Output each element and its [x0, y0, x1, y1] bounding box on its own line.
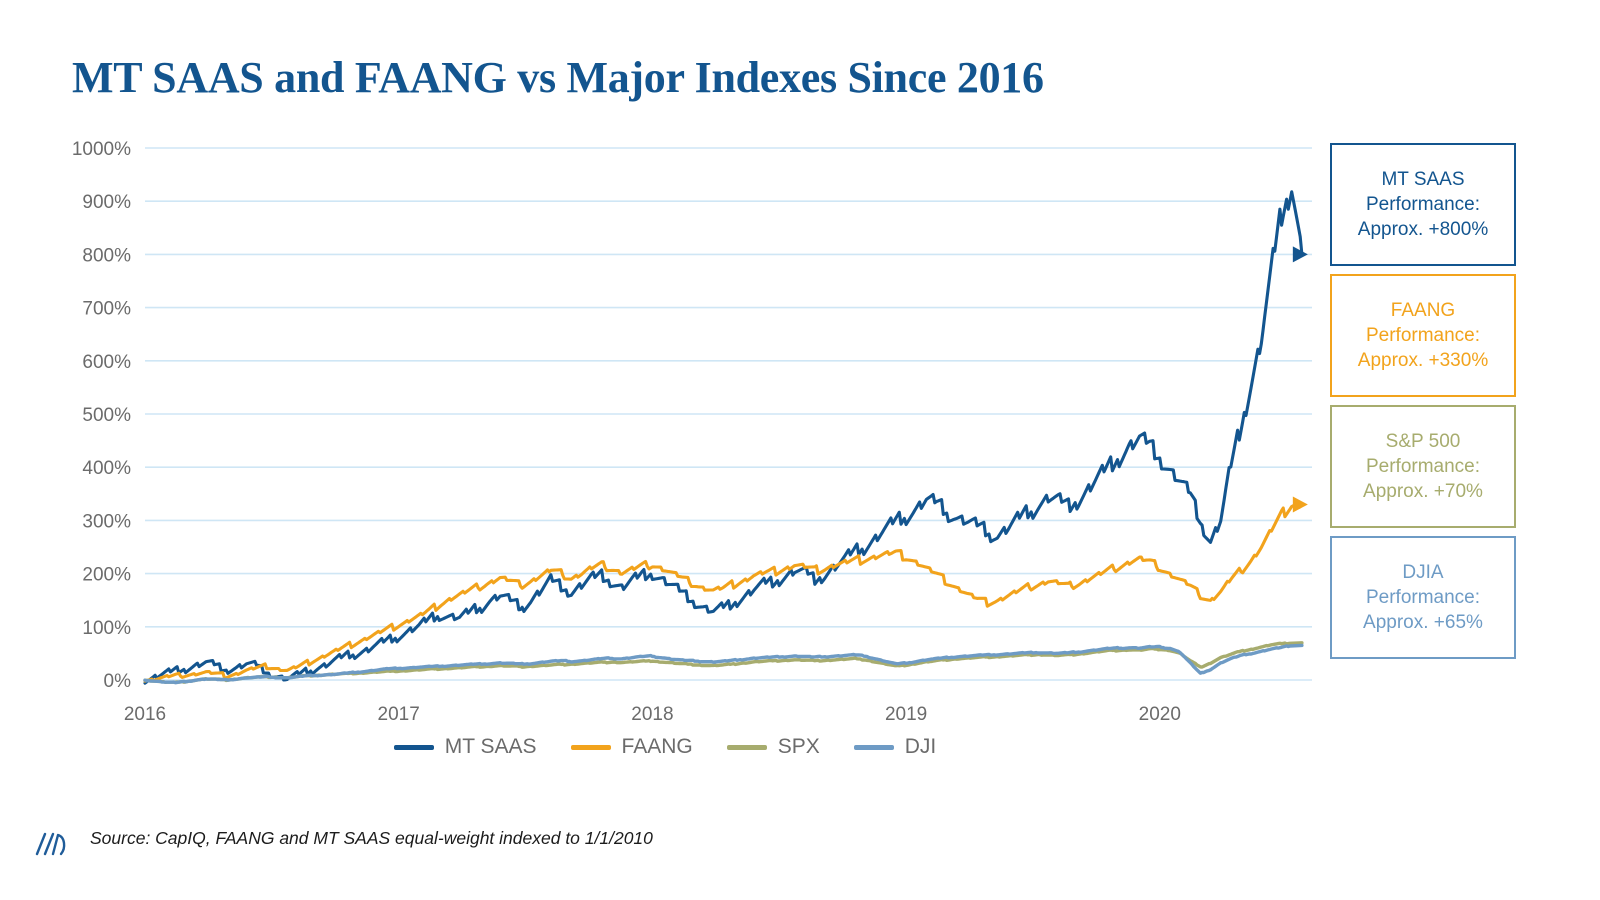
x-axis-tick: 2016 [124, 704, 166, 725]
chart-legend: MT SAASFAANGSPXDJI [0, 735, 1330, 759]
callout-spx: S&P 500Performance:Approx. +70% [1330, 405, 1516, 528]
x-axis-tick: 2017 [378, 704, 420, 725]
callout-line3: Approx. +330% [1358, 348, 1488, 373]
source-text: Source: CapIQ, FAANG and MT SAAS equal-w… [90, 828, 653, 849]
callout-line2: Performance: [1366, 454, 1480, 479]
series-line-faang [145, 504, 1302, 681]
y-axis-tick: 500% [82, 405, 131, 426]
legend-item-mt-saas[interactable]: MT SAAS [394, 735, 537, 759]
page-title: MT SAAS and FAANG vs Major Indexes Since… [72, 52, 1044, 103]
y-axis-tick: 200% [82, 565, 131, 586]
callout-line3: Approx. +70% [1363, 479, 1483, 504]
series-end-arrows [1293, 246, 1308, 512]
legend-swatch-icon [854, 745, 894, 750]
callout-line2: Performance: [1366, 192, 1480, 217]
x-axis-tick: 2019 [885, 704, 927, 725]
chart-area: 0%100%200%300%400%500%600%700%800%900%10… [0, 120, 1330, 740]
callout-mt-saas: MT SAASPerformance:Approx. +800% [1330, 143, 1516, 266]
legend-swatch-icon [727, 745, 767, 750]
callout-line1: FAANG [1391, 298, 1455, 323]
legend-item-faang[interactable]: FAANG [571, 735, 693, 759]
end-arrow-faang-icon [1293, 496, 1308, 512]
callout-line3: Approx. +800% [1358, 217, 1488, 242]
y-axis-tick: 800% [82, 245, 131, 266]
y-axis-tick: 900% [82, 192, 131, 213]
legend-label: SPX [778, 735, 820, 759]
callout-line2: Performance: [1366, 585, 1480, 610]
y-axis-tick: 0% [104, 671, 132, 692]
y-axis-tick: 600% [82, 352, 131, 373]
callout-line2: Performance: [1366, 323, 1480, 348]
legend-label: MT SAAS [445, 735, 537, 759]
legend-item-dji[interactable]: DJI [854, 735, 937, 759]
x-axis-tick: 2018 [631, 704, 673, 725]
callout-djia: DJIAPerformance:Approx. +65% [1330, 536, 1516, 659]
y-axis-tick: 700% [82, 299, 131, 320]
legend-swatch-icon [571, 745, 611, 750]
series-line-mt-saas [145, 192, 1302, 683]
callout-line1: S&P 500 [1386, 429, 1461, 454]
legend-label: FAANG [622, 735, 693, 759]
legend-label: DJI [905, 735, 937, 759]
callout-line1: DJIA [1402, 560, 1443, 585]
y-axis-tick: 1000% [72, 139, 131, 160]
series-lines [145, 192, 1302, 683]
x-axis-tick-labels: 20162017201820192020 [124, 704, 1181, 725]
callout-line1: MT SAAS [1381, 167, 1464, 192]
y-axis-tick: 400% [82, 458, 131, 479]
callout-faang: FAANGPerformance:Approx. +330% [1330, 274, 1516, 397]
source-footnote: Source: CapIQ, FAANG and MT SAAS equal-w… [34, 818, 653, 858]
legend-item-spx[interactable]: SPX [727, 735, 820, 759]
x-axis-tick: 2020 [1139, 704, 1181, 725]
y-axis-tick-labels: 0%100%200%300%400%500%600%700%800%900%10… [72, 139, 131, 692]
callout-line3: Approx. +65% [1363, 610, 1483, 635]
company-logo-icon [34, 818, 68, 858]
performance-line-chart: 0%100%200%300%400%500%600%700%800%900%10… [0, 120, 1330, 740]
y-axis-tick: 300% [82, 511, 131, 532]
legend-swatch-icon [394, 745, 434, 750]
y-axis-tick: 100% [82, 618, 131, 639]
callout-panel: MT SAASPerformance:Approx. +800%FAANGPer… [1330, 143, 1516, 659]
slide-root: MT SAAS and FAANG vs Major Indexes Since… [0, 0, 1600, 900]
